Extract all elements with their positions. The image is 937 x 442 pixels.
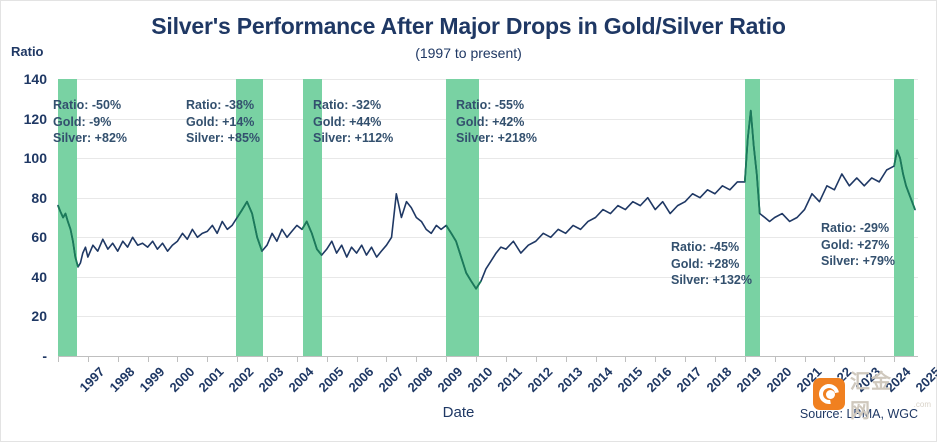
x-axis-tick-2001: 2001 [196, 364, 227, 395]
y-axis-tick-60: 60 [7, 229, 47, 245]
annotation-drop-2010-silver: Silver: +218% [456, 130, 537, 147]
chart-subtitle: (1997 to present) [1, 45, 936, 61]
x-axis-tick-2007: 2007 [375, 364, 406, 395]
x-axis-tick-2014: 2014 [584, 364, 615, 395]
x-axis-tickmark [386, 356, 387, 362]
annotation-drop-2003-silver: Silver: +85% [186, 130, 260, 147]
ratio-line-segment-2010 [446, 225, 481, 288]
x-axis-tick-2002: 2002 [226, 364, 257, 395]
x-axis-tick-2003: 2003 [256, 364, 287, 395]
x-axis-tick-2022: 2022 [823, 364, 854, 395]
x-axis-tick-2009: 2009 [435, 364, 466, 395]
y-axis-tick-20: 20 [7, 308, 47, 324]
x-axis-tickmark [237, 356, 238, 362]
x-axis-tickmark [297, 356, 298, 362]
x-axis-tickmark [566, 356, 567, 362]
annotation-drop-2005: Ratio: -32%Gold: +44%Silver: +112% [313, 97, 393, 147]
y-axis-tick--: - [7, 348, 47, 364]
annotation-drop-2003-gold: Gold: +14% [186, 114, 260, 131]
x-axis-tickmark [894, 356, 895, 362]
x-axis-tick-2025: 2025 [913, 364, 937, 395]
x-axis-tickmark [58, 356, 59, 362]
annotation-drop-2005-silver: Silver: +112% [313, 130, 393, 147]
annotation-drop-2020: Ratio: -45%Gold: +28%Silver: +132% [671, 239, 752, 289]
annotation-drop-2020-silver: Silver: +132% [671, 272, 752, 289]
x-axis-tickmark [775, 356, 776, 362]
x-axis-tick-2012: 2012 [524, 364, 555, 395]
chart-container: Silver's Performance After Major Drops i… [0, 0, 937, 442]
x-axis-tick-2010: 2010 [465, 364, 496, 395]
x-axis-tickmark [506, 356, 507, 362]
x-axis-line [58, 356, 918, 357]
x-axis-tick-2021: 2021 [793, 364, 824, 395]
annotation-drop-1997: Ratio: -50%Gold: -9%Silver: +82% [53, 97, 127, 147]
x-axis-tickmark [805, 356, 806, 362]
x-axis-tickmark [476, 356, 477, 362]
annotation-drop-2025-gold: Gold: +27% [821, 237, 895, 254]
x-axis-tick-2016: 2016 [644, 364, 675, 395]
annotation-drop-2010: Ratio: -55%Gold: +42%Silver: +218% [456, 97, 537, 147]
annotation-drop-1997-gold: Gold: -9% [53, 114, 127, 131]
x-axis-tickmark [685, 356, 686, 362]
annotation-drop-2025-ratio: Ratio: -29% [821, 220, 895, 237]
chart-title: Silver's Performance After Major Drops i… [1, 13, 936, 40]
x-axis-tickmark [207, 356, 208, 362]
x-axis-tickmark [864, 356, 865, 362]
x-axis-tick-2017: 2017 [674, 364, 705, 395]
annotation-drop-1997-ratio: Ratio: -50% [53, 97, 127, 114]
x-axis-tick-2011: 2011 [494, 364, 525, 395]
x-axis-tickmark [446, 356, 447, 362]
annotation-drop-2025-silver: Silver: +79% [821, 253, 895, 270]
ratio-line-segment-2005 [302, 221, 322, 255]
annotation-drop-2010-ratio: Ratio: -55% [456, 97, 537, 114]
x-axis-tick-2015: 2015 [614, 364, 645, 395]
x-axis-title: Date [1, 404, 936, 421]
x-axis-tick-1998: 1998 [106, 364, 137, 395]
x-axis-tickmark [357, 356, 358, 362]
x-axis-tickmark [536, 356, 537, 362]
ratio-line-segment-2003 [237, 202, 262, 251]
ratio-line-segment-2020 [745, 111, 760, 214]
x-axis-tickmark [596, 356, 597, 362]
y-axis-title: Ratio [11, 44, 44, 59]
y-axis-tick-80: 80 [7, 190, 47, 206]
x-axis-tickmark [655, 356, 656, 362]
annotation-drop-2003: Ratio: -38%Gold: +14%Silver: +85% [186, 97, 260, 147]
x-axis-tick-1999: 1999 [136, 364, 167, 395]
x-axis-tickmark [416, 356, 417, 362]
x-axis-tickmark [148, 356, 149, 362]
y-axis-tick-40: 40 [7, 269, 47, 285]
annotation-drop-2005-ratio: Ratio: -32% [313, 97, 393, 114]
x-axis-tick-2024: 2024 [883, 364, 914, 395]
x-axis-tick-2000: 2000 [166, 364, 197, 395]
ratio-line-segment-1997 [58, 206, 78, 267]
x-axis-tick-2006: 2006 [345, 364, 376, 395]
x-axis-tick-2004: 2004 [285, 364, 316, 395]
x-axis-tickmark [834, 356, 835, 362]
annotation-drop-2010-gold: Gold: +42% [456, 114, 537, 131]
x-axis-tick-2005: 2005 [315, 364, 346, 395]
x-axis-tick-2018: 2018 [704, 364, 735, 395]
x-axis-tickmark [177, 356, 178, 362]
x-axis-tickmark [715, 356, 716, 362]
x-axis-tick-1997: 1997 [76, 364, 107, 395]
annotation-drop-2020-ratio: Ratio: -45% [671, 239, 752, 256]
annotation-drop-1997-silver: Silver: +82% [53, 130, 127, 147]
x-axis-tickmark [327, 356, 328, 362]
x-axis-tickmark [625, 356, 626, 362]
ratio-line-segment-2025 [894, 150, 915, 209]
x-axis-tick-2019: 2019 [733, 364, 764, 395]
x-axis-tickmark [745, 356, 746, 362]
x-axis-tickmark [118, 356, 119, 362]
annotation-drop-2003-ratio: Ratio: -38% [186, 97, 260, 114]
x-axis-tick-2013: 2013 [554, 364, 585, 395]
x-axis-tick-2020: 2020 [763, 364, 794, 395]
source-note: Source: LBMA, WGC [800, 407, 918, 421]
x-axis-tick-2023: 2023 [853, 364, 884, 395]
annotation-drop-2025: Ratio: -29%Gold: +27%Silver: +79% [821, 220, 895, 270]
x-axis-tick-2008: 2008 [405, 364, 436, 395]
y-axis-tick-100: 100 [7, 150, 47, 166]
y-axis-tick-140: 140 [7, 71, 47, 87]
x-axis-tickmark [88, 356, 89, 362]
annotation-drop-2005-gold: Gold: +44% [313, 114, 393, 131]
y-axis-tick-120: 120 [7, 111, 47, 127]
x-axis-tickmark [267, 356, 268, 362]
annotation-drop-2020-gold: Gold: +28% [671, 256, 752, 273]
